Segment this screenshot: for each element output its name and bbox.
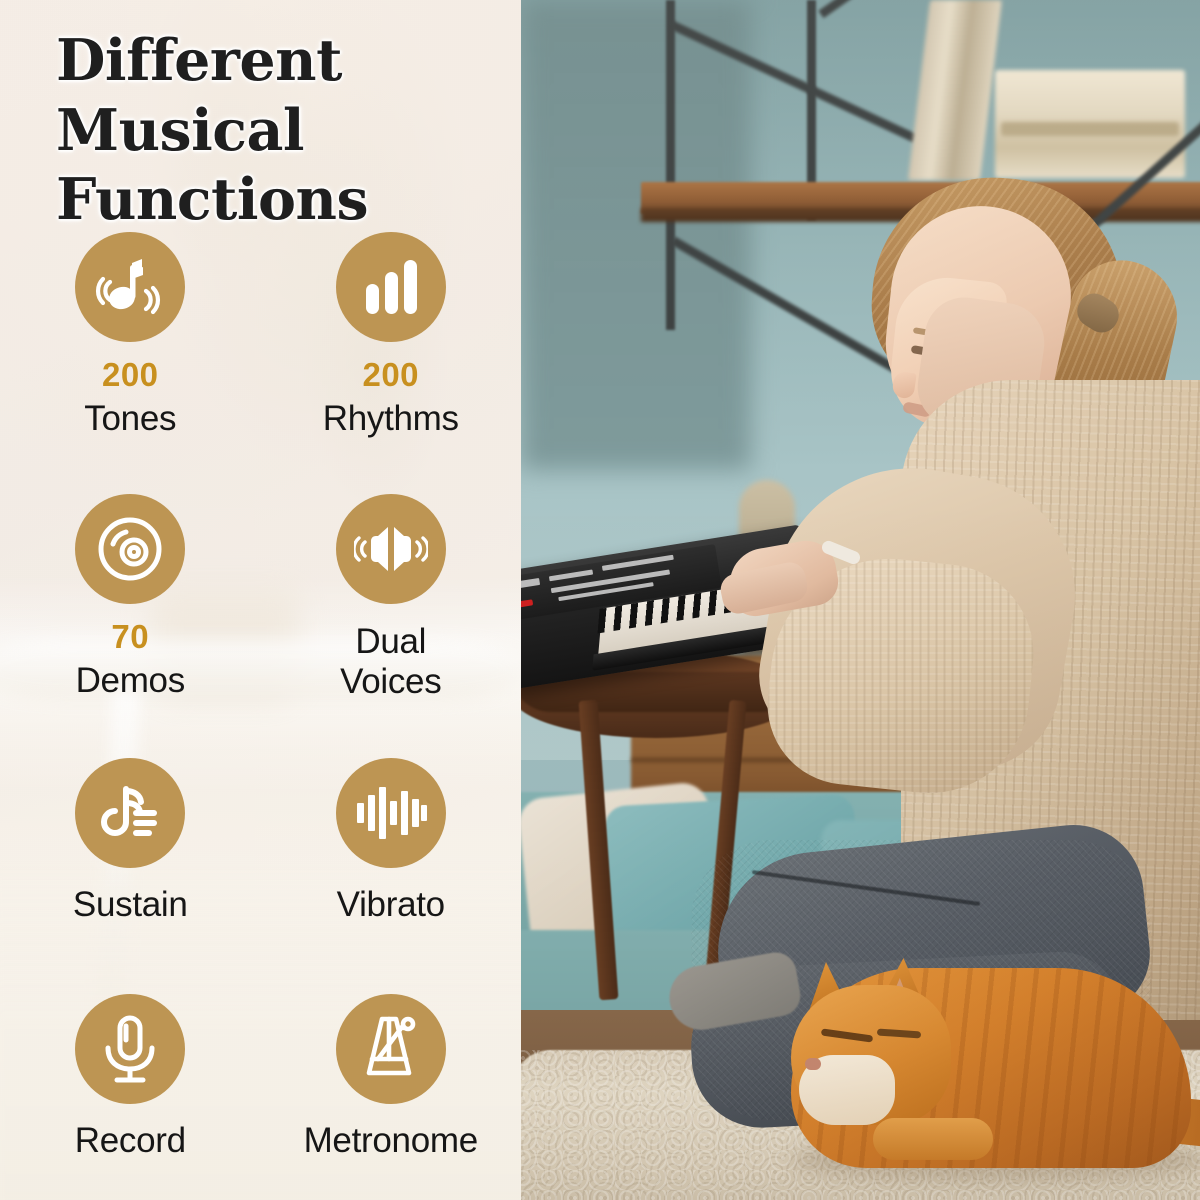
features-panel: Different Musical Functions	[0, 0, 521, 1200]
feature-count: 70	[111, 620, 149, 653]
product-feature-banner: Different Musical Functions	[0, 0, 1200, 1200]
microphone-icon	[75, 994, 185, 1104]
lifestyle-photo	[521, 0, 1200, 1200]
cat-paw	[873, 1118, 993, 1160]
feature-vibrato[interactable]: Vibrato	[261, 758, 522, 994]
feature-label: Demos	[76, 662, 185, 701]
feature-label: Rhythms	[323, 400, 459, 439]
feature-label: Metronome	[304, 1122, 478, 1161]
metronome-icon	[336, 994, 446, 1104]
waveform-icon	[336, 758, 446, 868]
wall-shadow	[521, 0, 751, 470]
feature-label: Tones	[84, 400, 176, 439]
feature-sustain[interactable]: Sustain	[0, 758, 261, 994]
feature-label: Record	[75, 1122, 186, 1161]
music-note-waves-icon	[75, 232, 185, 342]
feature-count: 200	[362, 358, 419, 391]
cat-nose	[805, 1058, 821, 1070]
feature-grid: 200 Tones 200 Rhythms	[0, 232, 521, 1200]
sustain-note-icon	[75, 758, 185, 868]
feature-label: Vibrato	[337, 886, 445, 925]
page-title-line1: Different Musical	[56, 26, 521, 165]
dual-speakers-icon	[336, 494, 446, 604]
feature-dual-voices[interactable]: Dual Voices	[261, 494, 522, 758]
feature-label-line1: Dual	[340, 622, 441, 662]
feature-metronome[interactable]: Metronome	[261, 994, 522, 1200]
feature-rhythms[interactable]: 200 Rhythms	[261, 232, 522, 494]
page-title: Different Musical Functions	[56, 26, 521, 235]
stacked-books-line	[1001, 122, 1179, 136]
shelf-upright	[666, 0, 675, 330]
feature-label-line2: Voices	[340, 662, 441, 702]
bar-levels-icon	[336, 232, 446, 342]
feature-demos[interactable]: 70 Demos	[0, 494, 261, 758]
feature-label: Dual Voices	[340, 622, 441, 703]
compact-disc-icon	[75, 494, 185, 604]
feature-count: 200	[102, 358, 159, 391]
feature-label: Sustain	[73, 886, 188, 925]
page-title-line2: Functions	[56, 165, 521, 235]
feature-record[interactable]: Record	[0, 994, 261, 1200]
feature-tones[interactable]: 200 Tones	[0, 232, 261, 494]
